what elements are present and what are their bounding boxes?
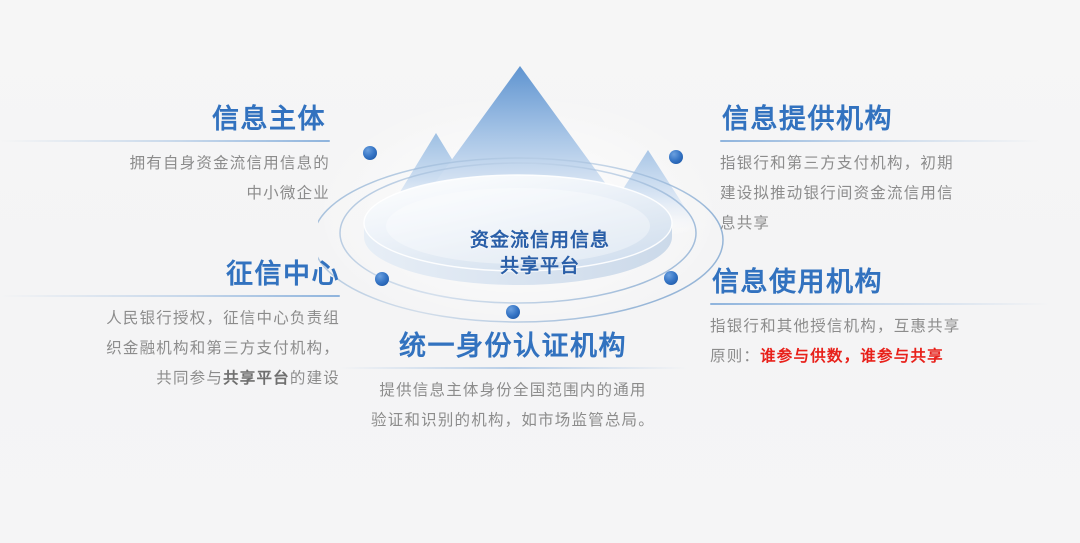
body-text-pre: 共同参与	[156, 370, 223, 387]
heading-underline	[720, 140, 1040, 142]
heading-information-provider: 信息提供机构	[720, 103, 1040, 135]
body-text-post: 的建设	[290, 370, 340, 387]
body-information-user: 指银行和其他授信机构，互惠共享 原则：谁参与供数，谁参与共享	[710, 312, 1050, 372]
heading-information-subject: 信息主体	[0, 103, 330, 135]
orbit-node-upper-left	[363, 146, 377, 160]
body-line: 指银行和第三方支付机构，初期	[720, 149, 1040, 179]
heading-underline	[338, 367, 688, 369]
body-text-emphasis: 共享平台	[223, 370, 290, 387]
body-line: 提供信息主体身份全国范围内的通用	[338, 376, 688, 406]
body-line: 验证和识别的机构，如市场监管总局。	[338, 406, 688, 436]
body-line: 拥有自身资金流信用信息的	[0, 149, 330, 179]
orbit-node-lower-left	[375, 272, 389, 286]
body-line: 织金融机构和第三方支付机构，	[0, 334, 340, 364]
orbit-node-upper-right	[669, 150, 683, 164]
body-credit-reference-center: 人民银行授权，征信中心负责组 织金融机构和第三方支付机构， 共同参与共享平台的建…	[0, 304, 340, 394]
disc-inner-shade	[386, 188, 650, 264]
body-line-with-accent: 原则：谁参与供数，谁参与共享	[710, 342, 1050, 372]
block-information-user: 信息使用机构 指银行和其他授信机构，互惠共享 原则：谁参与供数，谁参与共享	[710, 266, 1050, 372]
center-graphic: 资金流信用信息 共享平台	[318, 38, 762, 338]
block-credit-reference-center: 征信中心 人民银行授权，征信中心负责组 织金融机构和第三方支付机构， 共同参与共…	[0, 258, 340, 394]
heading-underline	[0, 140, 330, 142]
heading-unified-identity-authentication: 统一身份认证机构	[338, 330, 688, 362]
body-information-subject: 拥有自身资金流信用信息的 中小微企业	[0, 149, 330, 209]
body-text-pre: 原则：	[710, 348, 760, 365]
heading-underline	[0, 295, 340, 297]
infographic-canvas: 资金流信用信息 共享平台 信息主体 拥有自身资金流信用信息的 中小微企业 征信中…	[0, 0, 1080, 543]
body-text-accent: 谁参与供数，谁参与共享	[760, 348, 944, 365]
heading-information-user: 信息使用机构	[710, 266, 1050, 298]
block-unified-identity-authentication: 统一身份认证机构 提供信息主体身份全国范围内的通用 验证和识别的机构，如市场监管…	[338, 330, 688, 436]
body-line: 息共享	[720, 209, 1040, 239]
body-unified-identity-authentication: 提供信息主体身份全国范围内的通用 验证和识别的机构，如市场监管总局。	[338, 376, 688, 436]
orbit-node-bottom	[506, 305, 520, 319]
body-line: 中小微企业	[0, 179, 330, 209]
heading-credit-reference-center: 征信中心	[0, 258, 340, 290]
heading-underline	[710, 303, 1050, 305]
body-line: 人民银行授权，征信中心负责组	[0, 304, 340, 334]
platform-disc	[364, 175, 672, 285]
body-information-provider: 指银行和第三方支付机构，初期 建设拟推动银行间资金流信用信 息共享	[720, 149, 1040, 239]
body-line: 指银行和其他授信机构，互惠共享	[710, 312, 1050, 342]
body-line-with-emphasis: 共同参与共享平台的建设	[0, 364, 340, 394]
platform-illustration	[318, 38, 762, 338]
orbit-node-lower-right	[664, 271, 678, 285]
body-line: 建设拟推动银行间资金流信用信	[720, 179, 1040, 209]
block-information-provider: 信息提供机构 指银行和第三方支付机构，初期 建设拟推动银行间资金流信用信 息共享	[720, 103, 1040, 239]
block-information-subject: 信息主体 拥有自身资金流信用信息的 中小微企业	[0, 103, 330, 209]
